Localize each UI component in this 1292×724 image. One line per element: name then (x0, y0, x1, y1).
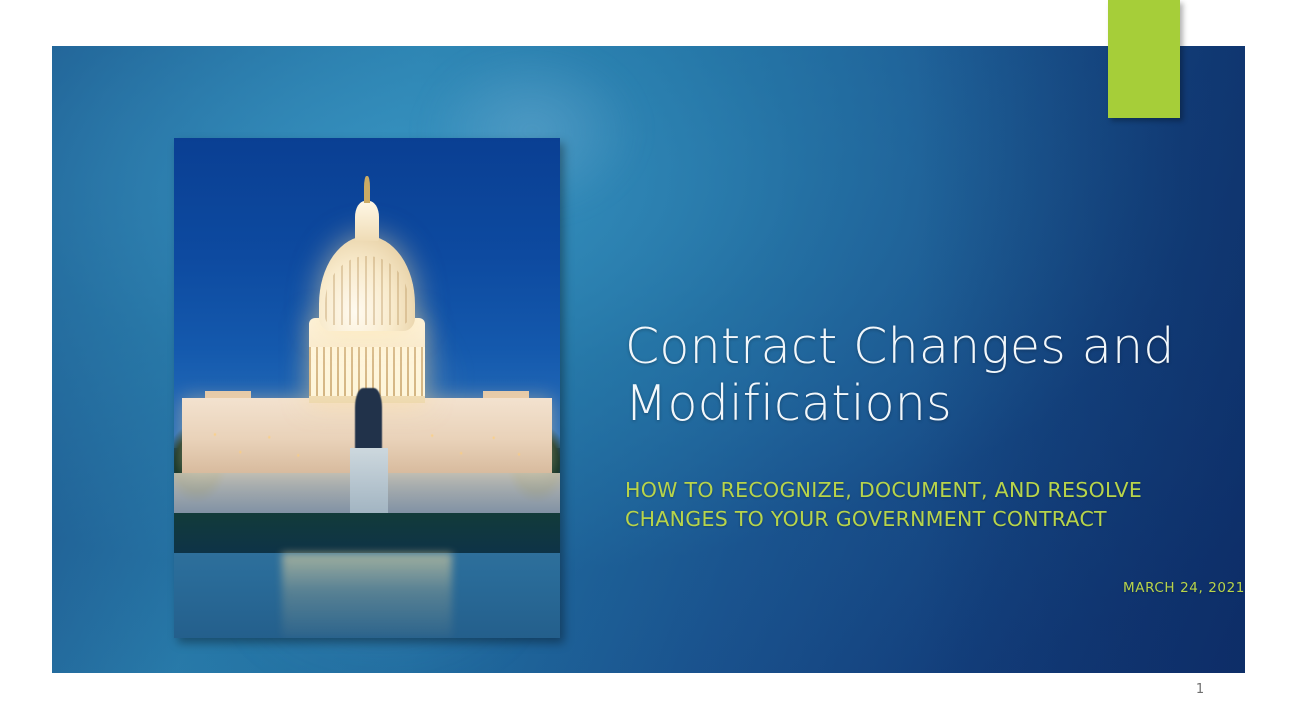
slide-title: Contract Changes and Modifications (625, 318, 1245, 433)
photo-equestrian-statue (355, 388, 382, 453)
capitol-building-photo (174, 138, 560, 638)
title-block: Contract Changes and Modifications (625, 318, 1245, 433)
title-slide: Contract Changes and Modifications HOW T… (52, 46, 1245, 673)
slide-date: MARCH 24, 2021 (625, 580, 1245, 596)
photo-statue-of-freedom (364, 176, 370, 204)
photo-water-reflection (282, 553, 452, 638)
photo-dome-ribs (325, 256, 410, 324)
photo-statue-pedestal (350, 448, 389, 518)
page-number: 1 (1180, 682, 1220, 697)
photo-dome-cupola (355, 201, 380, 241)
photo-lawn (174, 513, 560, 553)
presentation-page: Contract Changes and Modifications HOW T… (0, 0, 1292, 724)
green-accent-rectangle (1108, 0, 1180, 118)
slide-subtitle: HOW TO RECOGNIZE, DOCUMENT, AND RESOLVE … (625, 476, 1245, 534)
